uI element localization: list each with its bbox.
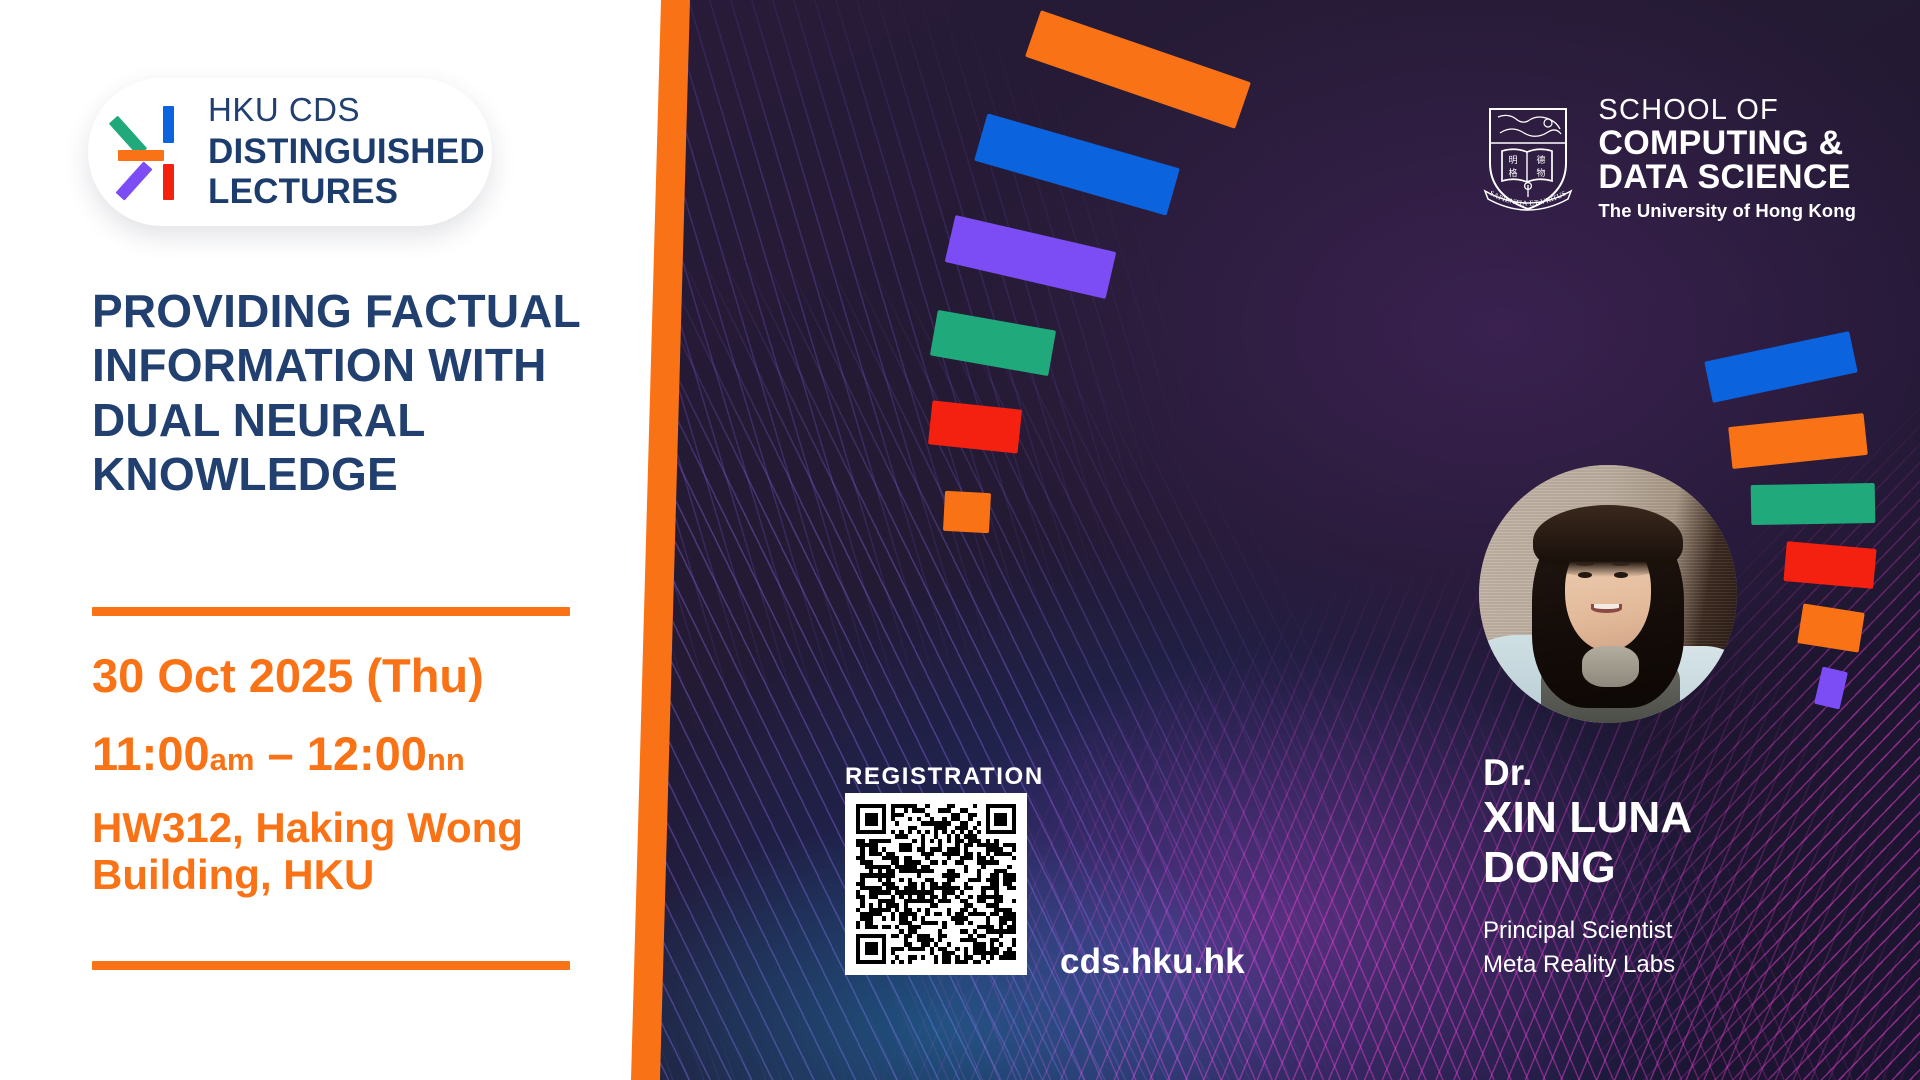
- speaker-org: Meta Reality Labs: [1483, 948, 1692, 982]
- portrait-eyebrow-right: [1612, 562, 1630, 566]
- svg-text:格: 格: [1509, 167, 1518, 179]
- badge-text: HKU CDS DISTINGUISHED LECTURES: [208, 93, 485, 212]
- badge-line-distinguished: DISTINGUISHED: [208, 132, 485, 172]
- time-end-suffix: nn: [427, 742, 465, 777]
- venue-line-2: Building, HKU: [92, 852, 652, 898]
- speaker-portrait: [1479, 465, 1737, 723]
- venue-line-1: HW312, Haking Wong: [92, 805, 652, 851]
- time-dash: –: [268, 727, 294, 780]
- divider-bottom: [92, 961, 570, 970]
- qr-code-icon: [856, 804, 1016, 964]
- portrait-scarf: [1582, 646, 1639, 687]
- event-venue: HW312, Haking Wong Building, HKU: [92, 805, 652, 897]
- event-poster: 明 德 格 物 SAPIENTIA ET VIRTUS SCHOOL OF CO…: [0, 0, 1920, 1080]
- hku-crest-icon: 明 德 格 物 SAPIENTIA ET VIRTUS: [1482, 103, 1574, 213]
- bar-orange-small: [943, 491, 991, 533]
- page-title: PROVIDING FACTUAL INFORMATION WITH DUAL …: [92, 284, 652, 501]
- title-line-2: INFORMATION WITH: [92, 338, 652, 392]
- hku-logo-wordmark: SCHOOL OF COMPUTING & DATA SCIENCE The U…: [1598, 96, 1856, 221]
- badge-line-lectures: LECTURES: [208, 172, 485, 212]
- title-line-3: DUAL NEURAL: [92, 393, 652, 447]
- title-line-1: PROVIDING FACTUAL: [92, 284, 652, 338]
- speaker-affiliation: Principal Scientist Meta Reality Labs: [1483, 914, 1692, 982]
- school-name-line2: DATA SCIENCE: [1598, 160, 1856, 195]
- event-date: 30 Oct 2025 (Thu): [92, 650, 652, 702]
- bar-red: [928, 400, 1022, 453]
- time-start: 11:00: [92, 727, 210, 780]
- title-line-4: KNOWLEDGE: [92, 447, 652, 501]
- time-end: 12:00: [307, 727, 427, 780]
- divider-top: [92, 607, 570, 616]
- school-of-label: SCHOOL OF: [1598, 96, 1856, 126]
- speaker-name-line1: XIN LUNA: [1483, 793, 1692, 842]
- speaker-honorific: Dr.: [1483, 752, 1692, 793]
- university-name: The University of Hong Kong: [1598, 202, 1856, 221]
- event-time: 11:00am – 12:00nn: [92, 728, 652, 780]
- portrait-hair-top: [1533, 505, 1683, 577]
- starburst-mark-icon: [118, 106, 182, 198]
- speaker-details: Dr. XIN LUNA DONG Principal Scientist Me…: [1483, 752, 1692, 982]
- time-start-suffix: am: [210, 742, 255, 777]
- badge-line-hku-cds: HKU CDS: [208, 93, 485, 126]
- registration-label: REGISTRATION: [845, 763, 1044, 791]
- bar-red-r: [1783, 541, 1876, 589]
- lecture-series-badge: HKU CDS DISTINGUISHED LECTURES: [88, 78, 492, 226]
- speaker-name-line2: DONG: [1483, 843, 1692, 892]
- website-url[interactable]: cds.hku.hk: [1060, 942, 1245, 982]
- portrait-eyebrow-left: [1576, 562, 1594, 566]
- speaker-role: Principal Scientist: [1483, 914, 1692, 948]
- svg-text:德: 德: [1537, 154, 1546, 166]
- bar-green-r: [1751, 483, 1876, 525]
- hku-school-logo: 明 德 格 物 SAPIENTIA ET VIRTUS SCHOOL OF CO…: [1482, 96, 1856, 221]
- school-name-line1: COMPUTING &: [1598, 126, 1856, 161]
- svg-text:物: 物: [1537, 167, 1546, 179]
- svg-text:明: 明: [1509, 155, 1518, 166]
- registration-qr-code[interactable]: [845, 793, 1027, 975]
- event-details: 30 Oct 2025 (Thu) 11:00am – 12:00nn HW31…: [92, 650, 652, 924]
